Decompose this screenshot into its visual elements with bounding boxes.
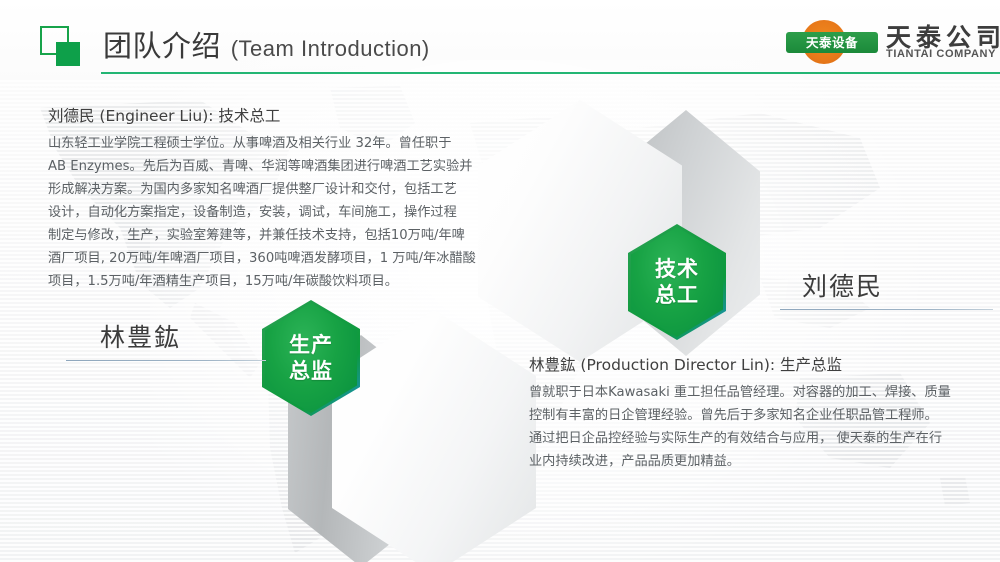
badge-technical-director-inner: 技术 总工 (631, 227, 723, 337)
page-title-en: (Team Introduction) (231, 36, 430, 61)
badge-production-director-line2: 总监 (289, 358, 333, 384)
badge-technical-director-line1: 技术 (655, 256, 699, 282)
bio-line: AB Enzymes。先后为百威、青啤、华润等啤酒集团进行啤酒工艺实验并 (48, 155, 488, 178)
bio-line: 制定与修改，生产，实验室筹建等，并兼任技术支持，包括10万吨/年啤 (48, 224, 488, 247)
corporate-logo-emblem: 天泰设备 (786, 20, 878, 64)
bio-body-lin: 曾就职于日本Kawasaki 重工担任品管经理。对容器的加工、焊接、质量 控制有… (529, 381, 979, 473)
page-title-cn: 团队介绍 (103, 29, 221, 63)
bio-title-lin: 林豊鈜 (Production Director Lin): 生产总监 (529, 353, 979, 375)
header-divider (101, 72, 1000, 74)
slide-canvas: 团队介绍 (Team Introduction) 天泰设备 天泰公司 TIANT… (0, 0, 1000, 562)
logo-square-filled (56, 42, 80, 66)
badge-technical-director-line2: 总工 (655, 282, 699, 308)
badge-production-director-line1: 生产 (289, 332, 333, 358)
nameplate-liu-text: 刘德民 (780, 267, 993, 303)
bio-line: 项目，1.5万吨/年酒精生产项目，15万吨/年碳酸饮料项目。 (48, 270, 488, 293)
corporate-logo: 天泰设备 天泰公司 TIANTAI COMPANY (786, 18, 992, 68)
nameplate-lin: 林豊鈜 (66, 318, 266, 361)
bio-line: 业内持续改进，产品品质更加精益。 (529, 450, 979, 473)
slide-header: 团队介绍 (Team Introduction) 天泰设备 天泰公司 TIANT… (0, 0, 1000, 78)
bio-line: 通过把日企品控经验与实际生产的有效结合与应用， 使天泰的生产在行 (529, 427, 979, 450)
badge-production-director-inner: 生产 总监 (265, 303, 357, 413)
bio-line: 山东轻工业学院工程硕士学位。从事啤酒及相关行业 32年。曾任职于 (48, 132, 488, 155)
bio-body-liu: 山东轻工业学院工程硕士学位。从事啤酒及相关行业 32年。曾任职于 AB Enzy… (48, 132, 488, 293)
page-title: 团队介绍 (Team Introduction) (103, 23, 430, 65)
nameplate-lin-text: 林豊鈜 (66, 318, 266, 354)
bio-block-liu: 刘德民 (Engineer Liu): 技术总工 山东轻工业学院工程硕士学位。从… (48, 104, 488, 293)
nameplate-lin-underline (66, 360, 266, 361)
bio-line: 酒厂项目, 20万吨/年啤酒厂项目，360吨啤酒发酵项目，1 万吨/年冰醋酸 (48, 247, 488, 270)
nameplate-liu: 刘德民 (780, 267, 993, 310)
company-name-en: TIANTAI COMPANY (886, 48, 996, 60)
nameplate-liu-underline (780, 309, 993, 310)
bio-title-liu: 刘德民 (Engineer Liu): 技术总工 (48, 104, 488, 126)
bio-line: 形成解决方案。为国内多家知名啤酒厂提供整厂设计和交付，包括工艺 (48, 178, 488, 201)
logo-ribbon-label: 天泰设备 (786, 32, 878, 53)
bio-block-lin: 林豊鈜 (Production Director Lin): 生产总监 曾就职于… (529, 353, 979, 473)
bio-line: 设计，自动化方案指定，设备制造，安装，调试，车间施工，操作过程 (48, 201, 488, 224)
bio-line: 曾就职于日本Kawasaki 重工担任品管经理。对容器的加工、焊接、质量 (529, 381, 979, 404)
bio-line: 控制有丰富的日企管理经验。曾先后于多家知名企业任职品管工程师。 (529, 404, 979, 427)
green-squares-logo-icon (40, 26, 86, 68)
